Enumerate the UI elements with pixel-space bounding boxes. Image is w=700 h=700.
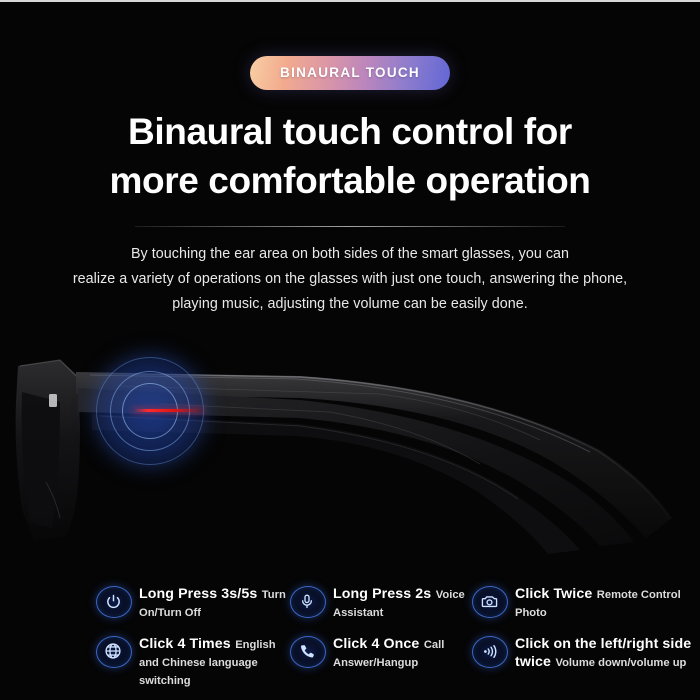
smart-glasses-illustration — [0, 332, 700, 577]
badge-row: BINAURAL TOUCH — [0, 56, 700, 90]
feature-item-power: Long Press 3s/5s Turn On/Turn Off — [96, 585, 290, 621]
promo-page: BINAURAL TOUCH Binaural touch control fo… — [0, 0, 700, 700]
power-icon — [96, 586, 130, 616]
feature-title: Long Press 2s — [333, 586, 431, 602]
description-line-3: playing music, adjusting the volume can … — [0, 292, 700, 317]
feature-item-volume: Click on the left/right side twice Volum… — [472, 635, 700, 671]
feature-item-call: Click 4 Once Call Answer/Hangup — [290, 635, 472, 671]
page-title: Binaural touch control for more comforta… — [0, 108, 700, 206]
feature-item-remote-photo: Click Twice Remote Control Photo — [472, 585, 700, 621]
phone-icon — [290, 636, 324, 666]
feature-grid: Long Press 3s/5s Turn On/Turn Off Long P… — [96, 585, 700, 687]
glasses-front-frame — [16, 360, 80, 540]
headline-line-1: Binaural touch control for — [0, 108, 700, 157]
globe-icon — [96, 636, 130, 666]
feature-item-voice-assistant: Long Press 2s Voice Assistant — [290, 585, 472, 621]
microphone-icon — [290, 586, 324, 616]
headline-line-2: more comfortable operation — [0, 157, 700, 206]
feature-title: Click Twice — [515, 586, 592, 602]
binaural-touch-badge: BINAURAL TOUCH — [250, 56, 450, 90]
description-line-2: realize a variety of operations on the g… — [0, 267, 700, 292]
feature-subtitle: Volume down/volume up — [555, 657, 686, 669]
feature-item-language: Click 4 Times English and Chinese langua… — [96, 635, 290, 689]
feature-title: Click 4 Once — [333, 636, 419, 652]
hinge-detail — [49, 394, 57, 407]
divider — [135, 226, 565, 227]
sound-wave-icon — [472, 636, 506, 666]
description-text: By touching the ear area on both sides o… — [0, 242, 700, 317]
description-line-1: By touching the ear area on both sides o… — [0, 242, 700, 267]
feature-title: Long Press 3s/5s — [139, 586, 257, 602]
feature-title: Click 4 Times — [139, 636, 231, 652]
camera-icon — [472, 586, 506, 616]
